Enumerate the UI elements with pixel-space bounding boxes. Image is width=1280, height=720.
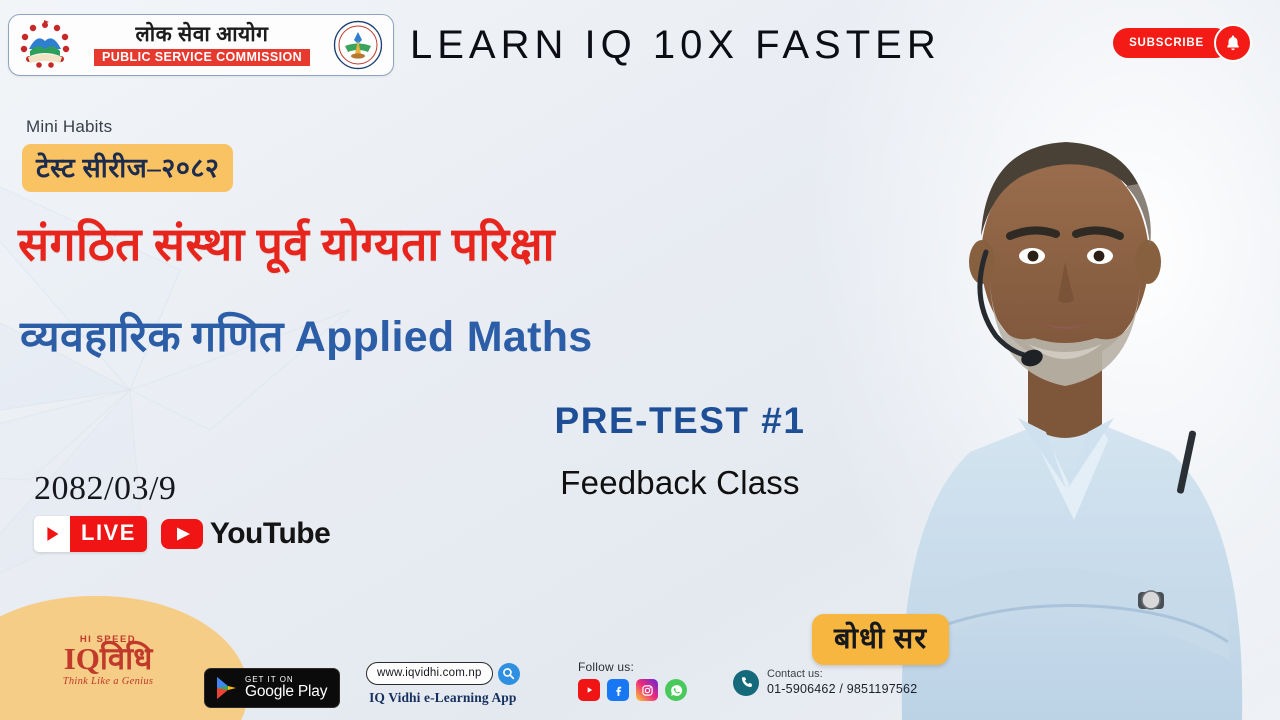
brand-name: IQविधि <box>28 643 188 674</box>
main-heading-nepali: संगठित संस्था पूर्व योग्यता परिक्षा <box>18 212 878 274</box>
subject-heading: व्यवहारिक गणित Applied Maths <box>20 305 890 364</box>
youtube-icon[interactable] <box>578 679 600 701</box>
google-play-badge[interactable]: GET IT ON Google Play <box>204 668 340 708</box>
event-date: 2082/03/9 <box>34 470 176 508</box>
youtube-logo: YouTube <box>161 517 330 551</box>
pretest-subtitle: Feedback Class <box>480 464 880 502</box>
psc-nepali-name: लोक सेवा आयोग <box>77 24 327 45</box>
subject-nepali: व्यवहारिक गणित <box>20 314 284 361</box>
google-play-text: GET IT ON Google Play <box>245 676 327 701</box>
contact-text: Contact us: 01-5906462 / 9851197562 <box>767 668 917 697</box>
pretest-title: PRE-TEST #1 <box>480 400 880 442</box>
app-name: IQ Vidhi e-Learning App <box>366 690 520 706</box>
subscribe-group: SUBSCRIBE <box>1113 24 1252 62</box>
contact-number: 01-5906462 / 9851197562 <box>767 682 917 698</box>
pretest-block: PRE-TEST #1 Feedback Class <box>480 400 880 502</box>
contact-label: Contact us: <box>767 668 917 682</box>
play-triangle-icon <box>34 516 70 552</box>
live-row: LIVE YouTube <box>34 516 330 552</box>
live-badge: LIVE <box>34 516 147 552</box>
psc-circular-seal-icon <box>333 20 383 70</box>
whatsapp-icon[interactable] <box>665 679 687 701</box>
brand-tagline: Think Like a Genius <box>28 676 188 687</box>
psc-logo-banner: लोक सेवा आयोग PUBLIC SERVICE COMMISSION <box>8 14 394 76</box>
website-block: www.iqvidhi.com.np IQ Vidhi e-Learning A… <box>366 662 520 706</box>
youtube-play-icon <box>161 519 203 549</box>
google-play-triangle-icon <box>215 676 237 700</box>
presenter-name-badge: बोधी सर <box>812 614 949 665</box>
live-label: LIVE <box>70 516 147 552</box>
website-url[interactable]: www.iqvidhi.com.np <box>366 662 493 685</box>
contact-block: Contact us: 01-5906462 / 9851197562 <box>733 668 917 697</box>
psc-text-block: लोक सेवा आयोग PUBLIC SERVICE COMMISSION <box>77 24 327 67</box>
phone-icon <box>733 670 759 696</box>
notification-bell-icon[interactable] <box>1214 24 1252 62</box>
channel-title: LEARN IQ 10X FASTER <box>410 16 1050 74</box>
presenter-photo <box>850 0 1280 720</box>
website-pill-row: www.iqvidhi.com.np <box>366 662 520 685</box>
subject-english: Applied Maths <box>295 313 593 361</box>
facebook-icon[interactable] <box>607 679 629 701</box>
psc-english-name: PUBLIC SERVICE COMMISSION <box>94 49 310 67</box>
mini-habits-label: Mini Habits <box>26 117 112 137</box>
follow-block: Follow us: <box>578 660 687 701</box>
youtube-label: YouTube <box>210 517 330 551</box>
nepal-government-emblem-icon <box>19 19 71 71</box>
social-icons <box>578 679 687 701</box>
instagram-icon[interactable] <box>636 679 658 701</box>
test-series-badge: टेस्ट सीरीज–२०८२ <box>22 144 233 192</box>
google-play-bottom-label: Google Play <box>245 684 327 700</box>
iqvidhi-brand-logo: HI SPEED IQविधि Think Like a Genius <box>28 634 188 687</box>
search-icon[interactable] <box>498 663 520 685</box>
subscribe-button[interactable]: SUBSCRIBE <box>1113 28 1230 58</box>
follow-label: Follow us: <box>578 660 687 674</box>
